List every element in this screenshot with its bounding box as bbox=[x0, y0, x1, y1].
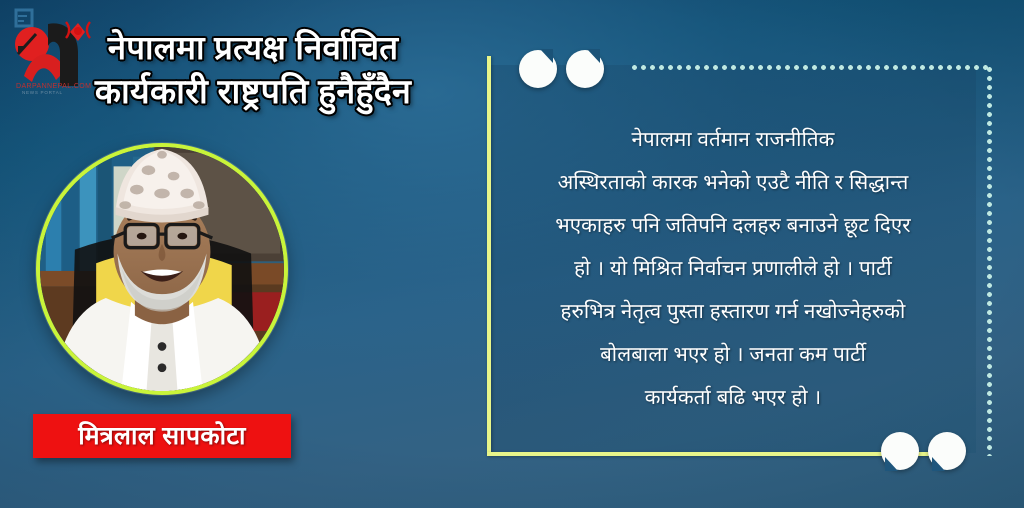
news-portal-logo[interactable]: DARPANNEPAL.COM NEWS PORTAL bbox=[4, 4, 108, 96]
speaker-name: मित्रलाल सापकोटा bbox=[78, 424, 246, 449]
quote-close-mark-icon bbox=[881, 432, 919, 470]
quote-border-right-dotted bbox=[987, 65, 992, 456]
quote-close-mark-icon bbox=[928, 432, 966, 470]
portrait-illustration bbox=[40, 147, 284, 391]
logo-mark-icon: DARPANNEPAL.COM NEWS PORTAL bbox=[4, 4, 108, 96]
quote-panel: नेपालमा वर्तमान राजनीतिक अस्थिरताको कारक… bbox=[487, 56, 992, 456]
svg-text:NEWS PORTAL: NEWS PORTAL bbox=[22, 90, 63, 95]
quote-line: हो । यो मिश्रित निर्वाचन प्रणालीले हो । … bbox=[511, 247, 955, 290]
quote-open-marks bbox=[519, 50, 604, 88]
portrait-photo bbox=[36, 143, 288, 395]
quote-line: हरुभित्र नेतृत्व पुस्ता हस्तारण गर्न नखो… bbox=[511, 290, 955, 333]
quote-line: भएकाहरु पनि जतिपनि दलहरु बनाउने छूट दिएर bbox=[511, 204, 955, 247]
quote-border-left bbox=[487, 56, 491, 453]
speaker-nameplate: मित्रलाल सापकोटा bbox=[33, 414, 291, 458]
quote-line: नेपालमा वर्तमान राजनीतिक bbox=[511, 118, 955, 161]
quote-line: कार्यकर्ता बढि भएर हो । bbox=[511, 376, 955, 419]
quote-close-marks bbox=[881, 432, 966, 470]
quote-line: अस्थिरताको कारक भनेको एउटै नीति र सिद्धा… bbox=[511, 161, 955, 204]
quote-open-mark-icon bbox=[519, 50, 557, 88]
quote-line: बोलबाला भएर हो । जनता कम पार्टी bbox=[511, 333, 955, 376]
svg-text:DARPANNEPAL.COM: DARPANNEPAL.COM bbox=[16, 83, 91, 90]
news-quote-banner: DARPANNEPAL.COM NEWS PORTAL नेपालमा प्रत… bbox=[0, 0, 1024, 508]
quote-border-top-dotted bbox=[630, 65, 992, 70]
quote-open-mark-icon bbox=[566, 50, 604, 88]
quote-text: नेपालमा वर्तमान राजनीतिक अस्थिरताको कारक… bbox=[511, 118, 955, 419]
